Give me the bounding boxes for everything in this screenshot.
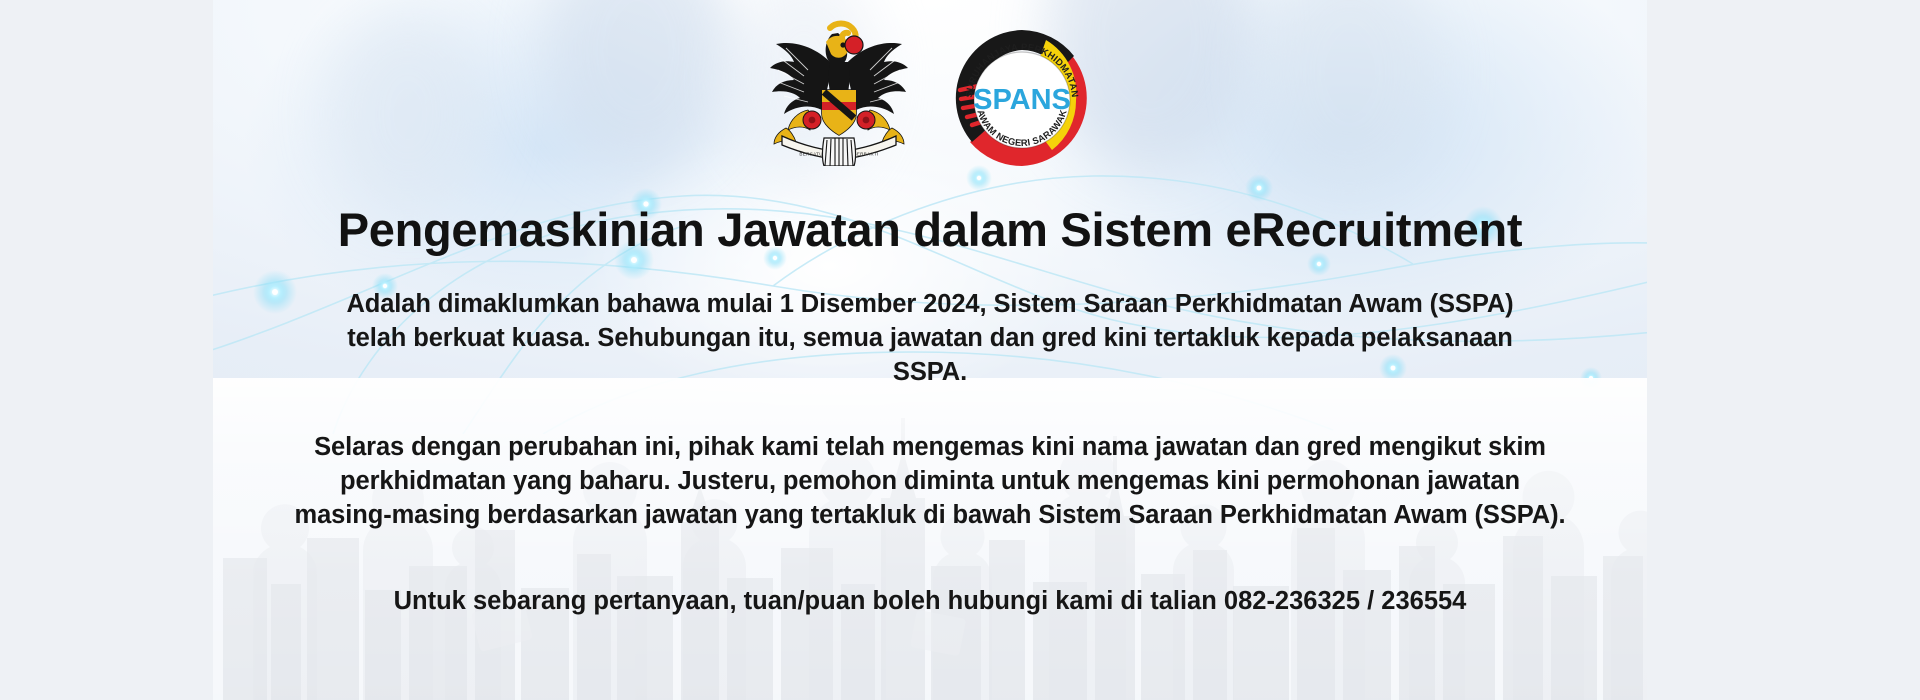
sarawak-state-crest-icon: BERSATU BERUSAHA BERBAKTI: [764, 14, 914, 166]
banner-content: BERSATU BERUSAHA BERBAKTI: [213, 0, 1647, 700]
announcement-paragraph-2: Selaras dengan perubahan ini, pihak kami…: [290, 431, 1570, 533]
page-title: Pengemaskinian Jawatan dalam Sistem eRec…: [338, 204, 1523, 256]
svg-text:SPANS: SPANS: [973, 84, 1071, 116]
announcement-paragraph-1: Adalah dimaklumkan bahawa mulai 1 Disemb…: [315, 288, 1545, 390]
page-root: BERSATU BERUSAHA BERBAKTI: [0, 0, 1920, 700]
contact-line: Untuk sebarang pertanyaan, tuan/puan bol…: [305, 585, 1555, 619]
announcement-banner: BERSATU BERUSAHA BERBAKTI: [213, 0, 1647, 700]
spans-logo-icon: SURUHANJAYA PERKHIDMATAN AWAM NEGERI SAR…: [948, 24, 1096, 172]
logo-row: BERSATU BERUSAHA BERBAKTI: [764, 14, 1096, 176]
